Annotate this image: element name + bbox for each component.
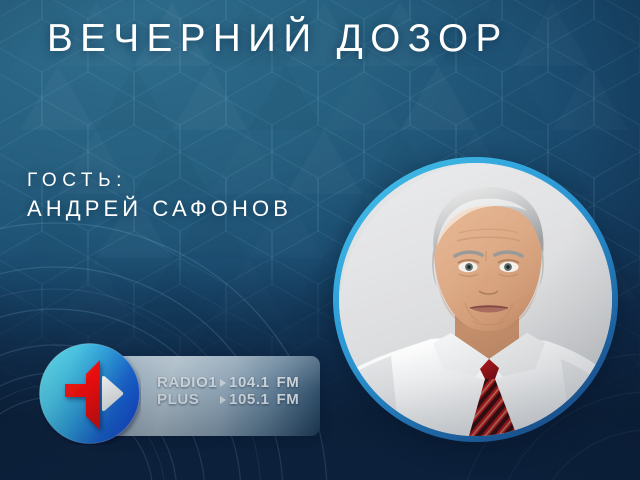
broadcast-announcement-graphic: ВЕЧЕРНИЙ ДОЗОР ГОСТЬ: АНДРЕЙ САФОНОВ [0,0,640,480]
vignette-overlay [0,0,640,480]
